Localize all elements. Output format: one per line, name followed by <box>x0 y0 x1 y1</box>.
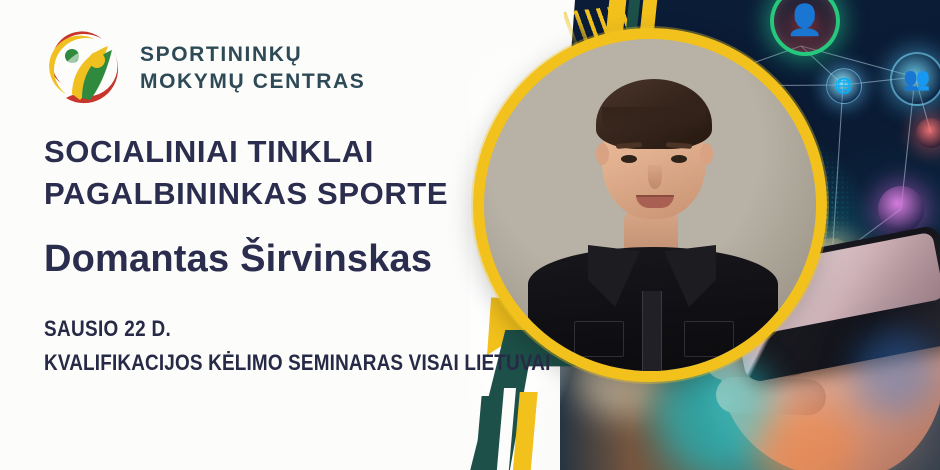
portrait-ear <box>700 143 713 165</box>
users-node: 👥 <box>890 52 940 106</box>
headline: SOCIALINIAI TINKLAI PAGALBININKAS SPORTE <box>44 131 448 214</box>
event-subtitle: KVALIFIKACIJOS KĖLIMO SEMINARAS VISAI LI… <box>44 346 551 380</box>
banner-content: SPORTININKŲ MOKYMŲ CENTRAS SOCIALINIAI T… <box>42 0 512 470</box>
headline-line-1: SOCIALINIAI TINKLAI <box>44 131 448 173</box>
portrait-ear <box>596 143 609 165</box>
organization-logo: SPORTININKŲ MOKYMŲ CENTRAS <box>42 26 365 110</box>
event-details: SAUSIO 22 D. KVALIFIKACIJOS KĖLIMO SEMIN… <box>44 312 633 380</box>
globe-icon: 🌐 <box>835 79 854 94</box>
portrait-eye <box>621 155 637 163</box>
globe-node: 🌐 <box>826 68 862 104</box>
portrait-nose <box>648 165 662 189</box>
headline-line-2: PAGALBININKAS SPORTE <box>44 173 448 215</box>
speaker-name: Domantas Širvinskas <box>44 238 432 281</box>
bokeh-light <box>852 330 938 416</box>
users-icon: 👥 <box>903 68 930 90</box>
portrait-shirt-pocket <box>684 321 734 357</box>
sportininku-mokymu-centras-emblem-icon <box>42 26 126 110</box>
portrait-shirt-placket <box>642 291 662 382</box>
seminar-promo-banner: 👤 👥 🌐 ○ <box>0 0 940 470</box>
event-date: SAUSIO 22 D. <box>44 312 551 346</box>
portrait-eye <box>671 155 687 163</box>
logo-line-1: SPORTININKŲ <box>140 41 365 68</box>
logo-wordmark: SPORTININKŲ MOKYMŲ CENTRAS <box>140 41 365 96</box>
pink-node <box>916 118 940 148</box>
logo-line-2: MOKYMŲ CENTRAS <box>140 68 365 95</box>
portrait-hair <box>596 79 712 149</box>
person-icon: 👤 <box>786 6 823 36</box>
